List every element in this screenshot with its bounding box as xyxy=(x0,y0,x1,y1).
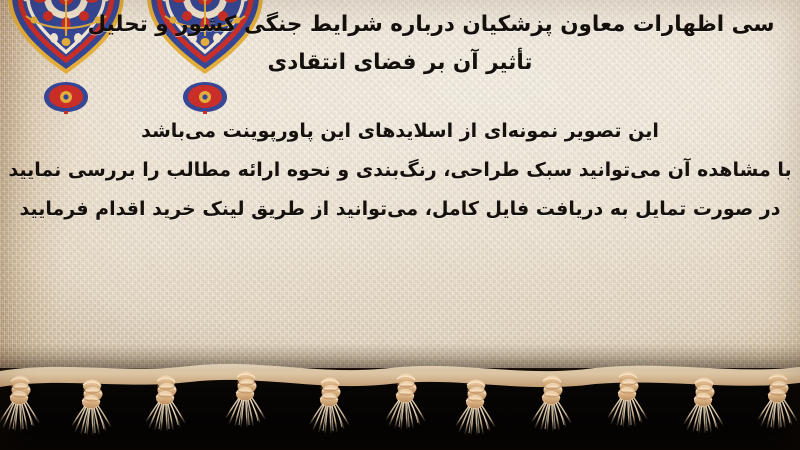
black-background-band xyxy=(0,368,800,450)
slide-body-copy: این تصویر نمونه‌ای از اسلایدهای این پاور… xyxy=(0,112,800,229)
body-line-1: این تصویر نمونه‌ای از اسلایدهای این پاور… xyxy=(0,112,800,151)
body-line-2: با مشاهده آن می‌توانید سبک طراحی، رنگ‌بن… xyxy=(0,151,800,190)
body-line-3: در صورت تمایل به دریافت فایل کامل، می‌تو… xyxy=(0,190,800,229)
headline-line-1: سی اظهارات معاون پزشکیان درباره شرایط جن… xyxy=(0,6,800,44)
slide-canvas: سی اظهارات معاون پزشکیان درباره شرایط جن… xyxy=(0,0,800,450)
headline-line-2: تأثیر آن بر فضای انتقادی xyxy=(0,44,800,82)
slide-headline: سی اظهارات معاون پزشکیان درباره شرایط جن… xyxy=(0,6,800,82)
